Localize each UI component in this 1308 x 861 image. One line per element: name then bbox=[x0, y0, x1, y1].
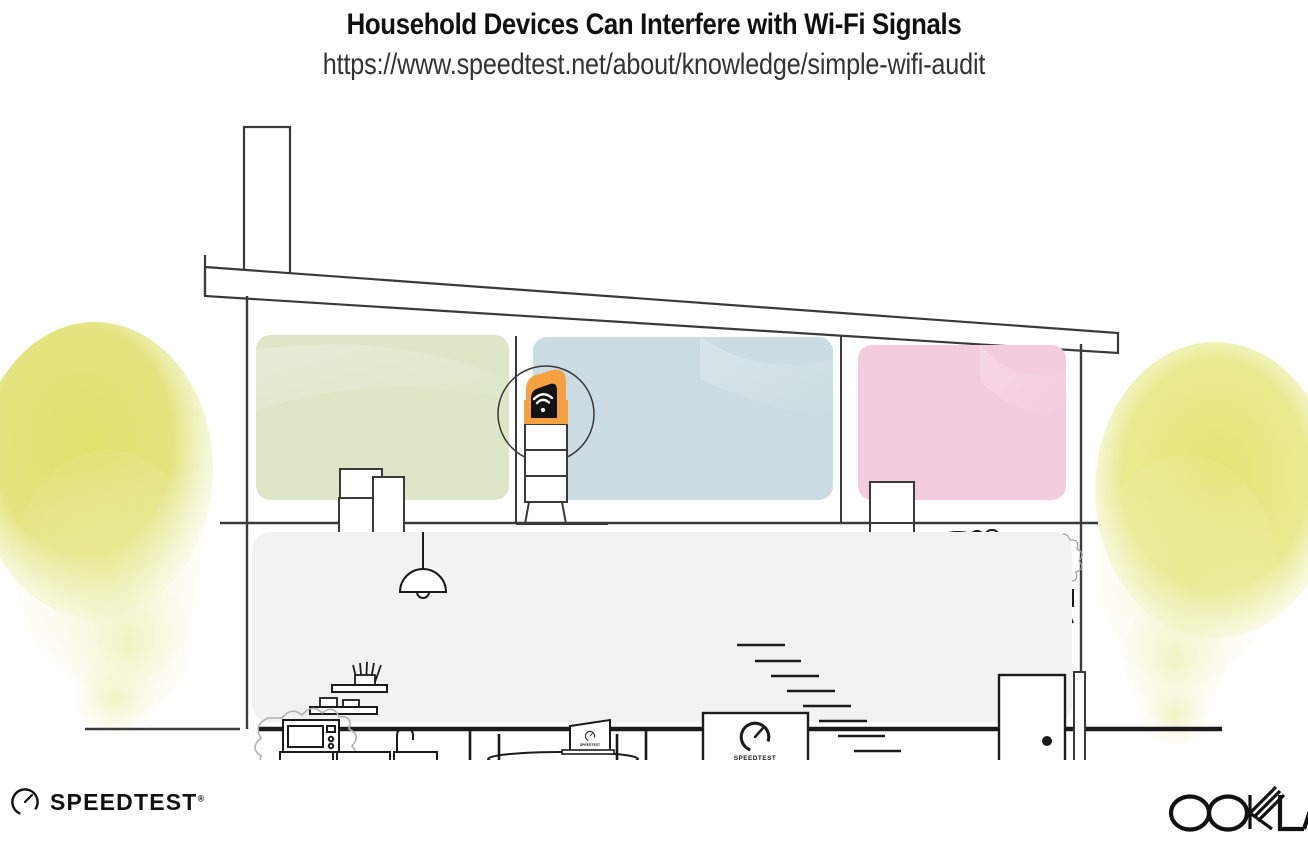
wifi-router[interactable] bbox=[524, 370, 568, 425]
shelf-unit bbox=[525, 424, 567, 524]
speedometer-icon bbox=[10, 787, 40, 817]
tree-right bbox=[1093, 342, 1308, 747]
front-door[interactable] bbox=[999, 675, 1065, 760]
kitchen-counter bbox=[280, 752, 437, 760]
laptop-screen-label: SPEEDTEST bbox=[580, 743, 601, 747]
house-cutaway-svg: SPEEDTEST bbox=[0, 100, 1308, 760]
source-url[interactable]: https://www.speedtest.net/about/knowledg… bbox=[105, 42, 1204, 82]
tv-screen-label: SPEEDTEST bbox=[734, 755, 777, 760]
ookla-wordmark-icon bbox=[1164, 783, 1308, 835]
tree-left bbox=[0, 322, 213, 738]
infographic-page: Household Devices Can Interfere with Wi-… bbox=[0, 0, 1308, 861]
wall-frame bbox=[870, 482, 914, 538]
wall-frame bbox=[373, 477, 404, 537]
speedtest-word: SPEEDTEST bbox=[50, 789, 198, 815]
ookla-logo[interactable] bbox=[1164, 783, 1308, 840]
chimney bbox=[244, 127, 290, 279]
laptop[interactable]: SPEEDTEST bbox=[562, 720, 614, 754]
footer: SPEEDTEST® bbox=[0, 769, 1308, 861]
room-ground-floor: SPEEDTEST SPEEDTES bbox=[252, 532, 1085, 760]
television[interactable]: SPEEDTEST bbox=[703, 713, 808, 760]
wall-frame-group bbox=[339, 469, 404, 540]
house-illustration: SPEEDTEST bbox=[0, 100, 1308, 760]
exterior-window-post bbox=[1074, 672, 1085, 760]
header: Household Devices Can Interfere with Wi-… bbox=[0, 0, 1308, 82]
speedtest-logo[interactable]: SPEEDTEST® bbox=[10, 787, 204, 817]
speedtest-wordmark: SPEEDTEST® bbox=[50, 789, 204, 816]
registered-mark: ® bbox=[198, 793, 205, 803]
shelf bbox=[332, 685, 387, 692]
door-knob[interactable] bbox=[1042, 736, 1052, 746]
microwave[interactable] bbox=[283, 720, 339, 752]
sink-faucet bbox=[397, 728, 413, 752]
page-title: Household Devices Can Interfere with Wi-… bbox=[92, 0, 1217, 42]
